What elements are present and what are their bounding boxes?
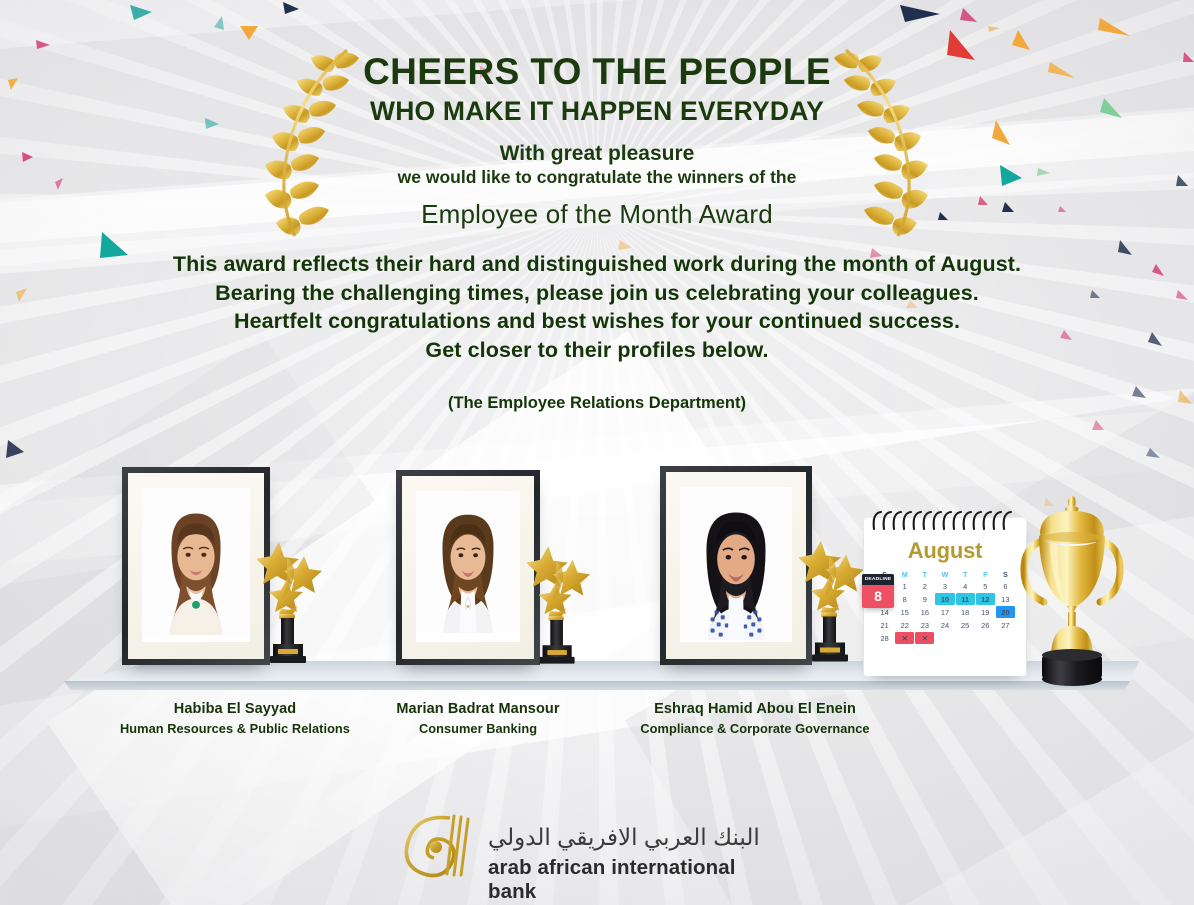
gold-cup-trophy-icon [1018,492,1126,688]
desk-calendar: August SMTWTFS 1234567891011121314151617… [864,518,1026,676]
subheadline-line-1: With great pleasure [0,142,1194,166]
calendar-day-cell[interactable]: 23 [915,619,934,631]
calendar-weekday: S [996,569,1015,579]
calendar-day-cell[interactable]: ✕ [895,632,914,644]
star-trophy-icon [799,532,869,664]
calendar-day-cell[interactable] [956,632,975,644]
calendar-day-cell[interactable]: 17 [935,606,954,618]
calendar-weekday-row: SMTWTFS [875,569,1015,579]
calendar-day-cell[interactable]: 13 [996,593,1015,605]
calendar-week-row: 14151617181920 [875,606,1015,618]
calendar-day-cell[interactable] [976,632,995,644]
calendar-weekday: W [935,569,954,579]
calendar-day-cell[interactable]: 9 [915,593,934,605]
calendar-grid[interactable]: SMTWTFS 12345678910111213141516171819202… [874,568,1016,645]
winner-name: Eshraq Hamid Abou El Enein [600,701,910,717]
deadline-badge: DEADLINE 8 [862,574,894,608]
winner-caption-2: Marian Badrat Mansour Consumer Banking [350,701,606,736]
portrait-photo-1 [142,488,250,642]
calendar-day-cell[interactable]: 22 [895,619,914,631]
bg-band [0,0,1194,18]
photo-frame [122,467,270,665]
calendar-day-cell[interactable]: 8 [895,593,914,605]
calendar-week-row: 123456 [875,580,1015,592]
body-text-block: This award reflects their hard and disti… [0,250,1194,413]
bank-name-english: arab african international bank [488,856,760,904]
calendar-week-row: 78910111213 [875,593,1015,605]
winner-name: Habiba El Sayyad [80,701,390,717]
body-line: This award reflects their hard and disti… [0,250,1194,279]
subheadline-line-2: we would like to congratulate the winner… [0,167,1194,188]
frame-mat [402,476,534,659]
poster-canvas: CHEERS TO THE PEOPLE WHO MAKE IT HAPPEN … [0,0,1194,905]
spiral-binding-icon [870,509,1020,531]
calendar-day-cell[interactable]: 12 [976,593,995,605]
body-line: Bearing the challenging times, please jo… [0,279,1194,308]
calendar-weekday: M [895,569,914,579]
photo-frame [396,470,540,665]
calendar-weekday: T [915,569,934,579]
calendar-day-cell[interactable]: 10 [935,593,954,605]
calendar-day-rows: 1234567891011121314151617181920212223242… [875,580,1015,644]
calendar-week-row: 21222324252627 [875,619,1015,631]
winner-department: Compliance & Corporate Governance [600,721,910,736]
calendar-day-cell[interactable]: 26 [976,619,995,631]
deadline-badge-day: 8 [862,585,894,608]
calendar-day-cell[interactable]: 11 [956,593,975,605]
signoff-text: (The Employee Relations Department) [0,394,1194,413]
calendar-day-cell[interactable]: 16 [915,606,934,618]
aaib-spiral-logo-icon [400,812,484,880]
calendar-day-cell[interactable]: 3 [935,580,954,592]
bank-name-arabic: البنك العربي الافريقي الدولي [488,824,760,851]
star-trophy-icon [527,538,595,666]
portrait-photo-2 [416,491,520,642]
calendar-day-cell[interactable]: 18 [956,606,975,618]
bank-logo: البنك العربي الافريقي الدولي arab africa… [400,812,760,884]
winner-display-3 [660,466,875,667]
calendar-day-cell[interactable]: 2 [915,580,934,592]
calendar-day-cell[interactable]: 24 [935,619,954,631]
calendar-day-cell[interactable]: 15 [895,606,914,618]
shelf-edge [64,681,1139,690]
calendar-month-label: August [864,538,1026,564]
calendar-day-cell[interactable]: 5 [976,580,995,592]
calendar-day-cell[interactable] [935,632,954,644]
title-block: CHEERS TO THE PEOPLE WHO MAKE IT HAPPEN … [0,52,1194,230]
headline-line-2: WHO MAKE IT HAPPEN EVERYDAY [0,96,1194,128]
portrait-photo-3 [680,487,792,642]
frame-mat [128,473,264,659]
deadline-badge-label: DEADLINE [862,574,894,585]
headline-line-1: CHEERS TO THE PEOPLE [0,52,1194,92]
winner-department: Consumer Banking [350,721,606,736]
calendar-day-cell[interactable] [996,632,1015,644]
winner-display-2 [396,470,611,667]
calendar-week-row: 28✕✕ [875,632,1015,644]
body-line: Get closer to their profiles below. [0,336,1194,365]
calendar-weekday: T [956,569,975,579]
calendar-day-cell[interactable]: 19 [976,606,995,618]
calendar-day-cell[interactable]: 25 [956,619,975,631]
winner-department: Human Resources & Public Relations [80,721,390,736]
winner-name: Marian Badrat Mansour [350,701,606,717]
calendar-day-cell[interactable]: 20 [996,606,1015,618]
calendar-day-cell[interactable]: 21 [875,619,894,631]
calendar-day-cell[interactable]: 4 [956,580,975,592]
calendar-day-cell[interactable]: 28 [875,632,894,644]
calendar-day-cell[interactable]: 27 [996,619,1015,631]
winner-display-1 [122,467,337,667]
calendar-day-cell[interactable]: 1 [895,580,914,592]
frame-mat [666,472,806,659]
winner-caption-3: Eshraq Hamid Abou El Enein Compliance & … [600,701,910,736]
calendar-day-cell[interactable]: ✕ [915,632,934,644]
award-name: Employee of the Month Award [0,199,1194,230]
body-line: Heartfelt congratulations and best wishe… [0,307,1194,336]
photo-frame [660,466,812,665]
calendar-weekday: F [976,569,995,579]
calendar-day-cell[interactable]: 6 [996,580,1015,592]
star-trophy-icon [257,534,327,665]
winner-caption-1: Habiba El Sayyad Human Resources & Publi… [80,701,390,736]
